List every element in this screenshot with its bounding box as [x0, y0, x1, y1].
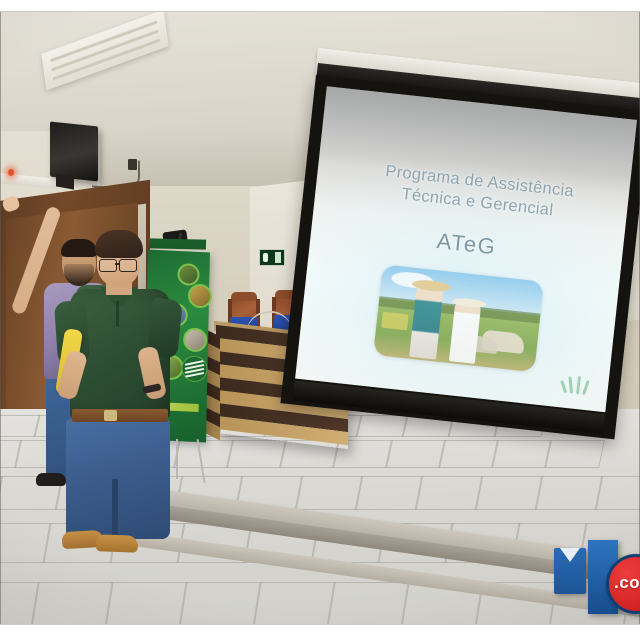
floor-tile [173, 440, 234, 468]
presenter-shoe-right [96, 534, 139, 552]
slide-photo-tractor [381, 311, 409, 330]
top-band-divider [0, 11, 640, 12]
floor-tile [326, 582, 409, 625]
floor-tile [475, 476, 544, 510]
screenshot-root: Programa de Assistência Técnica e Gerenc… [0, 0, 640, 640]
floor-tile [30, 582, 113, 625]
floor-tile [535, 476, 604, 510]
floor-tile [355, 415, 408, 437]
floor-tile [385, 440, 446, 468]
bottom-letterbox-band [0, 625, 640, 640]
photograph: Programa de Assistência Técnica e Gerenc… [0, 11, 640, 625]
presenter-leg-seam [112, 479, 118, 541]
slide-photo [373, 264, 544, 372]
emergency-exit-sign-icon [259, 249, 285, 266]
wall-socket [128, 159, 137, 170]
floor-tile [544, 440, 605, 468]
banner-photo-bubble [188, 283, 212, 308]
floor-tile [595, 476, 640, 510]
watermark-domain-text: .com [614, 573, 640, 593]
presenter-hair [95, 230, 143, 258]
floor-tile [104, 582, 187, 625]
bottom-band-divider [0, 624, 640, 625]
presenter-eyeglasses-icon [99, 259, 139, 270]
top-letterbox-band [0, 0, 640, 11]
banner-stand-leg [176, 439, 178, 479]
presenter-belt [72, 409, 168, 422]
projection-screen: Programa de Assistência Técnica e Gerenc… [280, 75, 640, 439]
second-man-hair [61, 239, 97, 257]
second-man-shoe [36, 473, 66, 486]
red-indicator-light [8, 169, 14, 176]
floor-tile [178, 582, 261, 625]
floor-tile [252, 582, 335, 625]
floor-tile [491, 440, 552, 468]
slide-surface: Programa de Assistência Técnica e Gerenc… [295, 86, 637, 412]
slide-wheat-leaf-icon [562, 373, 590, 396]
banner-top-rail [150, 238, 206, 249]
floor-tile [355, 476, 424, 510]
watermark-logo: .com [550, 536, 640, 614]
floor-tile [295, 476, 364, 510]
banner-logo-icon [181, 355, 208, 382]
presenter-jeans [66, 419, 170, 539]
floor-tile [415, 476, 484, 510]
banner-photo-bubble [177, 263, 199, 286]
floor-tile [438, 440, 499, 468]
banner-photo-bubble [183, 327, 207, 352]
presenter-placket [116, 301, 119, 327]
wall-speaker-icon [50, 121, 98, 181]
presenter-belt-buckle [104, 410, 117, 421]
floor-tile [226, 440, 287, 468]
